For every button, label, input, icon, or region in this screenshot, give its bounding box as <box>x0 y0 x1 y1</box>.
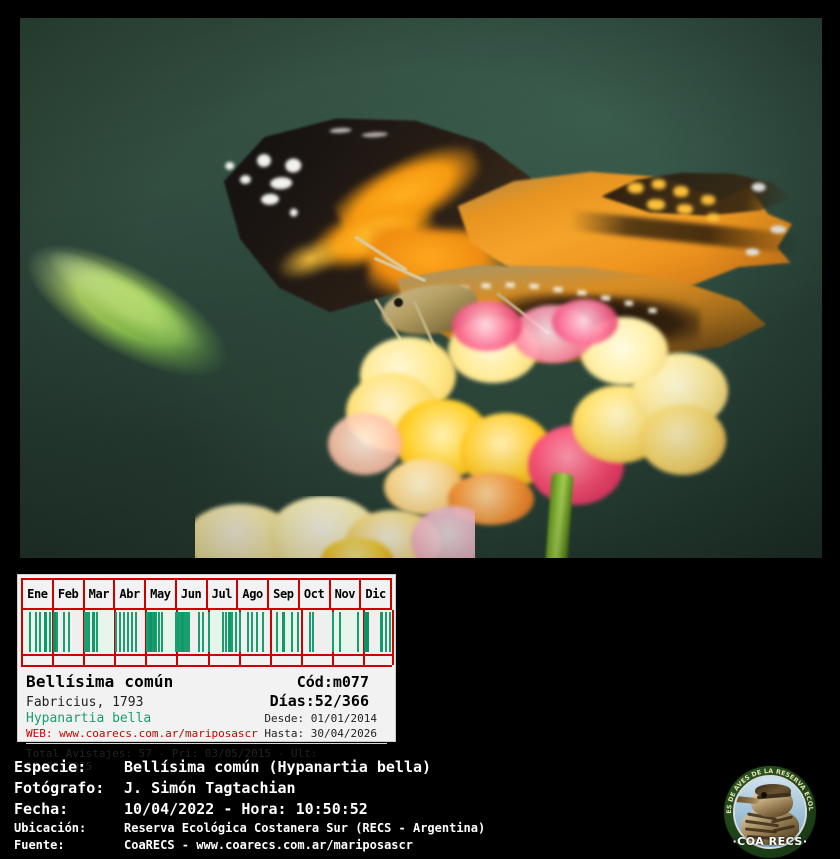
tick-chart-footer <box>21 656 392 667</box>
month-divider-foot <box>83 656 85 665</box>
logo-center-text: ·COA RECS· <box>724 835 816 848</box>
logo-ring-text: CLUB DE OBSERVADORES DE AVES DE LA RESER… <box>724 766 814 814</box>
month-divider <box>270 610 272 656</box>
sighting-tick <box>222 612 224 652</box>
sighting-tick <box>282 612 285 652</box>
species-common-name: Bellísima común <box>26 672 174 691</box>
month-cell-jun: Jun <box>177 580 208 608</box>
detail-row: Fecha:10/04/2022 - Hora: 10:50:52 <box>14 799 654 820</box>
detail-label: Fuente: <box>14 837 124 854</box>
sighting-tick <box>198 612 200 652</box>
sighting-tick <box>115 612 117 652</box>
detail-label: Especie: <box>14 757 124 778</box>
detail-row: Fuente:CoaRECS - www.coarecs.com.ar/mari… <box>14 837 654 854</box>
month-divider-foot <box>270 656 272 665</box>
sighting-tick <box>208 612 210 652</box>
sighting-tick <box>88 612 90 652</box>
sighting-tick <box>29 612 31 652</box>
sighting-tick <box>385 612 387 652</box>
month-cell-ago: Ago <box>238 580 269 608</box>
month-divider-foot <box>114 656 116 665</box>
month-divider-foot <box>301 656 303 665</box>
detail-label: Fotógrafo: <box>14 778 124 799</box>
date-from: Desde: 01/01/2014 <box>264 712 387 725</box>
sighting-tick <box>35 612 37 652</box>
sighting-tick <box>297 612 299 652</box>
coa-recs-logo[interactable]: CLUB DE OBSERVADORES DE AVES DE LA RESER… <box>718 768 820 856</box>
month-cell-sep: Sep <box>269 580 300 608</box>
sighting-tick <box>251 612 253 652</box>
sighting-tick <box>380 612 383 652</box>
sighting-tick <box>92 612 95 652</box>
species-scientific-name: Hypanartia bella <box>26 711 151 726</box>
month-cell-nov: Nov <box>331 580 362 608</box>
month-header-row: EneFebMarAbrMayJunJulAgoSepOctNovDic <box>21 578 392 610</box>
month-cell-ene: Ene <box>21 580 54 608</box>
sighting-tick <box>127 612 129 652</box>
species-author-year: Fabricius, 1793 <box>26 695 143 710</box>
sighting-tick <box>364 612 369 652</box>
detail-value: J. Simón Tagtachian <box>124 778 296 799</box>
detail-label: Fecha: <box>14 799 124 820</box>
days-count: Días:52/366 <box>270 692 387 710</box>
sighting-tick <box>188 612 190 652</box>
sighting-tick <box>309 612 311 652</box>
sighting-tick <box>239 612 241 652</box>
detail-value: CoaRECS - www.coarecs.com.ar/mariposascr <box>124 837 413 854</box>
month-cell-abr: Abr <box>115 580 146 608</box>
phenology-card: EneFebMarAbrMayJunJulAgoSepOctNovDic Bel… <box>17 574 396 742</box>
species-code: Cód:m077 <box>297 673 387 691</box>
sighting-tick <box>235 612 237 652</box>
web-url: www.coarecs.com.ar/mariposascr <box>59 727 258 740</box>
date-to: Hasta: 30/04/2026 <box>264 727 387 740</box>
photo-vignette <box>20 18 822 558</box>
month-divider-foot <box>208 656 210 665</box>
sighting-tick <box>119 612 121 652</box>
sighting-tick <box>389 612 391 652</box>
month-divider-foot <box>239 656 241 665</box>
sighting-tick <box>291 612 293 652</box>
sighting-tick <box>158 612 160 652</box>
sighting-tick <box>276 612 278 652</box>
sighting-tick <box>332 612 334 652</box>
sighting-tick <box>135 612 137 652</box>
month-cell-may: May <box>146 580 177 608</box>
sightings-tick-chart <box>21 610 392 656</box>
sighting-tick <box>63 612 65 652</box>
sighting-tick <box>96 612 98 652</box>
sighting-tick <box>339 612 341 652</box>
month-divider-foot <box>332 656 334 665</box>
sighting-tick <box>161 612 163 652</box>
month-cell-mar: Mar <box>85 580 116 608</box>
detail-row: Fotógrafo:J. Simón Tagtachian <box>14 778 654 799</box>
month-divider <box>392 610 394 656</box>
sighting-tick <box>49 612 51 652</box>
species-photograph <box>20 18 822 558</box>
month-divider-foot <box>21 656 23 665</box>
sighting-tick <box>357 612 359 652</box>
sighting-tick <box>247 612 249 652</box>
sighting-tick <box>68 612 70 652</box>
sighting-tick <box>123 612 125 652</box>
detail-value: Reserva Ecológica Costanera Sur (RECS - … <box>124 820 485 837</box>
web-link[interactable]: WEB: www.coarecs.com.ar/mariposascr <box>26 727 258 740</box>
month-cell-dic: Dic <box>361 580 392 608</box>
month-cell-jul: Jul <box>208 580 239 608</box>
sighting-tick <box>131 612 133 652</box>
detail-row: Especie:Bellísima común (Hypanartia bell… <box>14 757 654 778</box>
sighting-tick <box>56 612 58 652</box>
month-band <box>270 610 301 654</box>
month-cell-feb: Feb <box>54 580 85 608</box>
sighting-tick <box>312 612 314 652</box>
sighting-tick <box>231 612 233 652</box>
month-divider-foot <box>145 656 147 665</box>
sighting-tick <box>256 612 258 652</box>
sighting-tick <box>155 612 157 652</box>
detail-label: Ubicación: <box>14 820 124 837</box>
detail-row: Ubicación:Reserva Ecológica Costanera Su… <box>14 820 654 837</box>
month-divider-foot <box>363 656 365 665</box>
month-divider-foot <box>176 656 178 665</box>
observation-details: Especie:Bellísima común (Hypanartia bell… <box>14 757 654 854</box>
sighting-tick <box>262 612 264 652</box>
month-divider-foot <box>52 656 54 665</box>
month-divider <box>301 610 303 656</box>
sighting-tick <box>39 612 41 652</box>
month-divider-foot <box>392 656 394 665</box>
detail-value: Bellísima común (Hypanartia bella) <box>124 757 431 778</box>
web-label: WEB: <box>26 727 53 740</box>
month-divider <box>21 610 23 656</box>
detail-value: 10/04/2022 - Hora: 10:50:52 <box>124 799 368 820</box>
sighting-tick <box>225 612 227 652</box>
logo-text-layer: CLUB DE OBSERVADORES DE AVES DE LA RESER… <box>724 766 816 858</box>
month-cell-oct: Oct <box>300 580 331 608</box>
sighting-tick <box>202 612 204 652</box>
sighting-tick <box>44 612 47 652</box>
